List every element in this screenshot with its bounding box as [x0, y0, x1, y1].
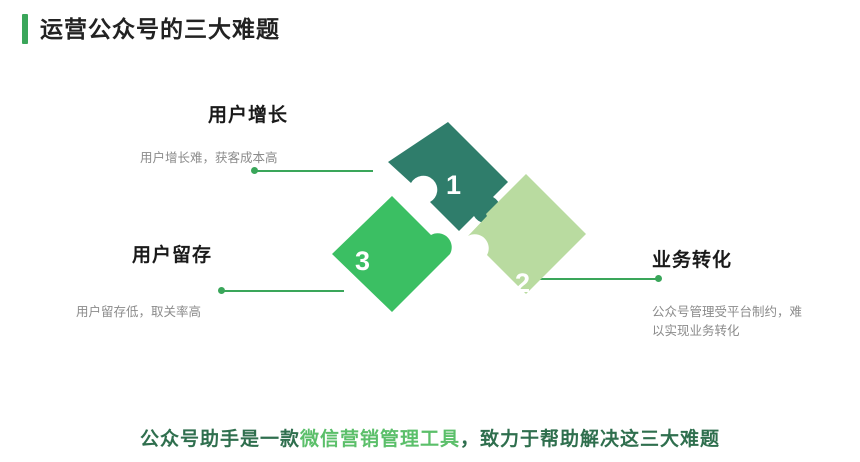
puzzle-diagram: 1 3 2 — [330, 118, 590, 358]
connector-line-retention — [222, 290, 344, 292]
title-accent-bar — [22, 14, 28, 44]
footer-highlight: 微信营销管理工具 — [300, 429, 460, 450]
puzzle-svg — [330, 118, 590, 358]
connector-dot-growth — [251, 167, 258, 174]
connector-dot-conversion — [655, 275, 662, 282]
label-desc-conversion: 公众号管理受平台制约，难以实现业务转化 — [652, 303, 802, 341]
label-heading-growth: 用户增长 — [208, 100, 288, 127]
title-text: 运营公众号的三大难题 — [40, 14, 280, 44]
label-desc-retention: 用户留存低，取关率高 — [76, 303, 201, 322]
footer-prefix: 公众号助手是一款 — [140, 429, 300, 450]
label-heading-conversion: 业务转化 — [652, 245, 732, 272]
label-desc-growth: 用户增长难，获客成本高 — [140, 149, 278, 168]
puzzle-piece-3[interactable] — [332, 196, 452, 312]
slide-root: 运营公众号的三大难题 1 3 2 用户增长 用户增长难，获客成本高 用户留存 用… — [0, 0, 860, 462]
label-heading-retention: 用户留存 — [132, 240, 212, 267]
footer-text: 公众号助手是一款微信营销管理工具，致力于帮助解决这三大难题 — [0, 424, 860, 451]
puzzle-number-2: 2 — [515, 268, 530, 299]
puzzle-number-3: 3 — [355, 246, 370, 277]
footer-suffix: ，致力于帮助解决这三大难题 — [460, 429, 720, 450]
connector-dot-retention — [218, 287, 225, 294]
page-title: 运营公众号的三大难题 — [22, 14, 280, 44]
puzzle-number-1: 1 — [446, 170, 461, 201]
